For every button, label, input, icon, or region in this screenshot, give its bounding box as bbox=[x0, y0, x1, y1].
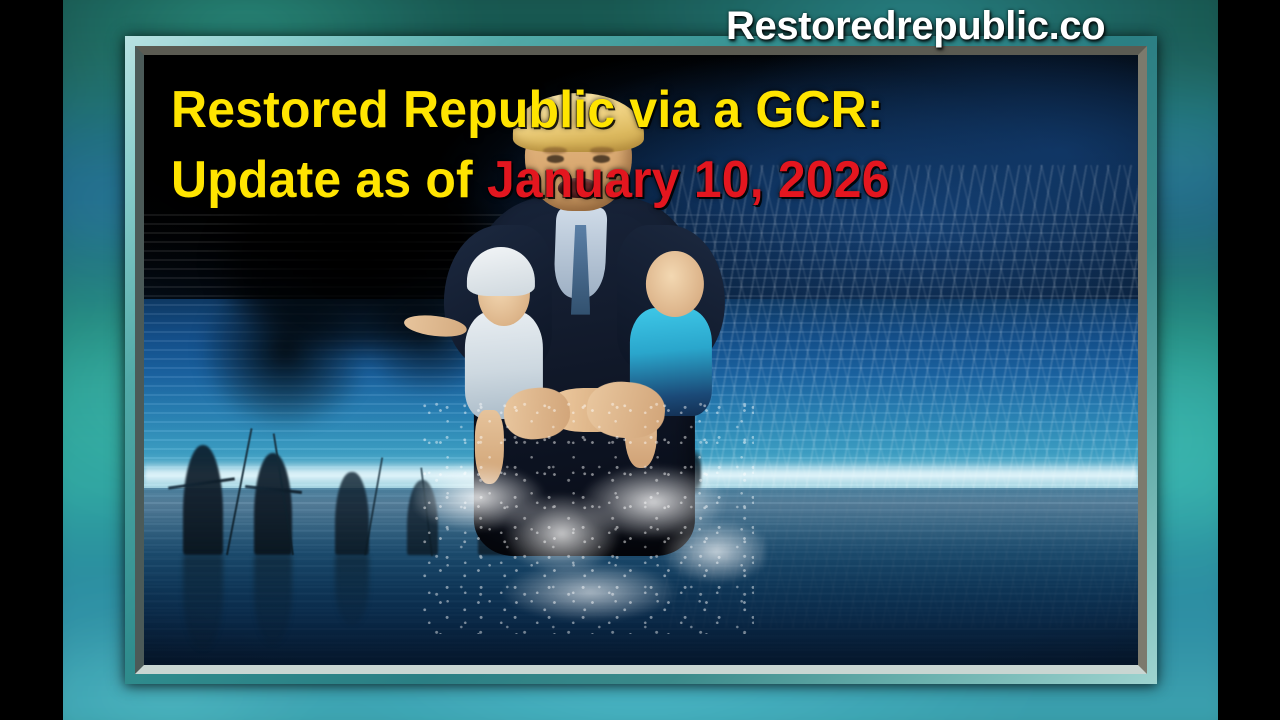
staff bbox=[226, 429, 253, 556]
thumbnail-stage: Restored Republic via a GCR: Update as o… bbox=[0, 0, 1280, 720]
letterbox-bar-right bbox=[1218, 0, 1280, 720]
man-carrying-babies bbox=[432, 73, 730, 634]
channel-watermark: Restoredrepublic.co bbox=[726, 4, 1105, 48]
eyebrow-right bbox=[590, 147, 614, 154]
baby-left-bonnet bbox=[467, 247, 535, 296]
hooded-figure bbox=[335, 472, 368, 555]
thumbnail-photo: Restored Republic via a GCR: Update as o… bbox=[144, 55, 1138, 665]
figure-reflection bbox=[335, 555, 368, 625]
water-droplets bbox=[420, 399, 754, 635]
letterbox-bar-left bbox=[0, 0, 63, 720]
open-mouth bbox=[558, 178, 600, 198]
eyebrow-left bbox=[543, 147, 567, 154]
blond-hair bbox=[513, 93, 644, 152]
hooded-figure bbox=[183, 445, 224, 555]
picture-frame: Restored Republic via a GCR: Update as o… bbox=[125, 36, 1157, 684]
hooded-figure bbox=[254, 453, 292, 555]
baby-right-head bbox=[646, 251, 704, 317]
